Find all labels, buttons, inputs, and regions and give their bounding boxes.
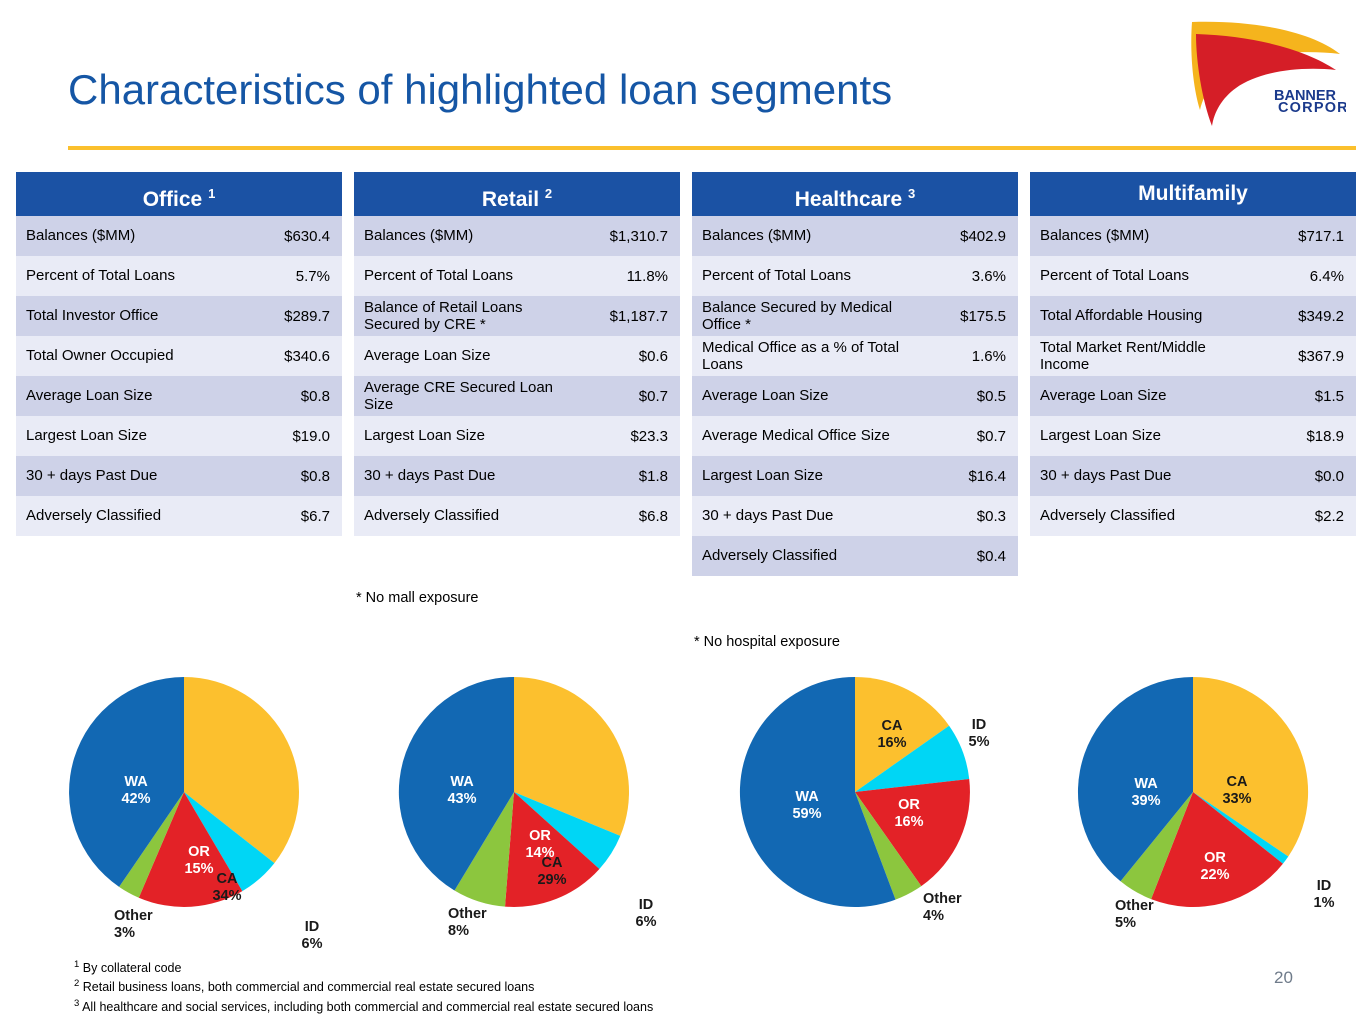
pie-chart-multifamily: CA 33% ID 1% OR 22% Other 5% WA 39% xyxy=(1078,662,1328,942)
pie-value-or: 16% xyxy=(894,814,923,830)
pie-label-ca: CA xyxy=(217,871,238,887)
row-label: Balance Secured by Medical Office * xyxy=(702,299,924,334)
row-value: $340.6 xyxy=(248,348,330,365)
table-row: Largest Loan Size$16.4 xyxy=(692,456,1018,496)
footnote-mark-1: 1 xyxy=(74,959,79,970)
row-label: Largest Loan Size xyxy=(1040,427,1262,444)
pie-value-ca: 34% xyxy=(212,888,241,904)
row-label: 30 + days Past Due xyxy=(702,507,924,524)
pie-value-other: 3% xyxy=(114,925,135,941)
table-retail: Retail 2 Balances ($MM)$1,310.7 Percent … xyxy=(354,172,680,536)
row-value: $289.7 xyxy=(248,308,330,325)
row-value: $1,310.7 xyxy=(586,228,668,245)
row-value: $0.6 xyxy=(586,348,668,365)
row-value: $6.7 xyxy=(248,508,330,525)
table-row: Average CRE Secured Loan Size$0.7 xyxy=(354,376,680,416)
row-label: Adversely Classified xyxy=(1040,507,1262,524)
pie-value-id: 6% xyxy=(636,914,657,930)
footnote-text-2: Retail business loans, both commercial a… xyxy=(83,980,535,994)
table-row: Adversely Classified$0.4 xyxy=(692,536,1018,576)
footnote-3: 3 All healthcare and social services, in… xyxy=(74,997,653,1016)
row-value: $1.5 xyxy=(1262,388,1344,405)
row-label: Average Loan Size xyxy=(364,347,586,364)
table-row: Medical Office as a % of Total Loans1.6% xyxy=(692,336,1018,376)
row-label: Total Affordable Housing xyxy=(1040,307,1262,324)
table-row: Total Affordable Housing$349.2 xyxy=(1030,296,1356,336)
table-row: Balance Secured by Medical Office *$175.… xyxy=(692,296,1018,336)
table-row: Total Investor Office$289.7 xyxy=(16,296,342,336)
row-label: Balances ($MM) xyxy=(1040,227,1262,244)
logo-subwordmark: CORPORATION xyxy=(1278,100,1346,116)
pie-label-wa: WA xyxy=(795,789,819,805)
row-label: Adversely Classified xyxy=(702,547,924,564)
row-label: Largest Loan Size xyxy=(364,427,586,444)
table-header-office: Office 1 xyxy=(16,172,342,216)
pie-value-ca: 33% xyxy=(1222,791,1251,807)
pie-label-ca: CA xyxy=(882,718,903,734)
pie-label-id: ID xyxy=(972,717,987,733)
table-header-office-footnote-mark: 1 xyxy=(208,186,215,201)
footnote-mark-2: 2 xyxy=(74,978,79,989)
row-label: Balances ($MM) xyxy=(364,227,586,244)
pie-label-or: OR xyxy=(1204,850,1226,866)
row-value: $0.5 xyxy=(924,388,1006,405)
pie-value-ca: 16% xyxy=(877,735,906,751)
table-header-office-label: Office xyxy=(143,188,203,211)
row-value: $349.2 xyxy=(1262,308,1344,325)
row-value: 11.8% xyxy=(586,268,668,285)
footnote-text-3: All healthcare and social services, incl… xyxy=(82,1000,653,1014)
table-multifamily: Multifamily Balances ($MM)$717.1 Percent… xyxy=(1030,172,1356,536)
table-row: Total Market Rent/Middle Income$367.9 xyxy=(1030,336,1356,376)
pie-label-other: Other xyxy=(923,891,962,907)
table-row: Percent of Total Loans6.4% xyxy=(1030,256,1356,296)
row-label: Percent of Total Loans xyxy=(1040,267,1262,284)
row-label: Balances ($MM) xyxy=(702,227,924,244)
row-label: Balance of Retail Loans Secured by CRE * xyxy=(364,299,586,334)
table-row: Total Owner Occupied$340.6 xyxy=(16,336,342,376)
row-value: $367.9 xyxy=(1262,348,1344,365)
table-row: Balances ($MM)$402.9 xyxy=(692,216,1018,256)
table-row: Balance of Retail Loans Secured by CRE *… xyxy=(354,296,680,336)
table-row: Balances ($MM)$630.4 xyxy=(16,216,342,256)
row-label: Total Owner Occupied xyxy=(26,347,248,364)
row-value: $630.4 xyxy=(248,228,330,245)
row-label: Balances ($MM) xyxy=(26,227,248,244)
row-label: Adversely Classified xyxy=(26,507,248,524)
row-value: $19.0 xyxy=(248,428,330,445)
table-row: Largest Loan Size$19.0 xyxy=(16,416,342,456)
row-label: Average Loan Size xyxy=(702,387,924,404)
table-row: Average Loan Size$1.5 xyxy=(1030,376,1356,416)
pie-value-id: 5% xyxy=(969,734,990,750)
page-number: 20 xyxy=(1274,968,1293,988)
row-value: $717.1 xyxy=(1262,228,1344,245)
table-header-retail-footnote-mark: 2 xyxy=(545,186,552,201)
pie-value-or: 22% xyxy=(1200,867,1229,883)
pie-chart-retail: CA 29% ID 6% OR 14% Other 8% WA 43% xyxy=(400,662,640,942)
footnotes: 1 By collateral code 2 Retail business l… xyxy=(74,958,653,1016)
table-header-retail: Retail 2 xyxy=(354,172,680,216)
row-label: 30 + days Past Due xyxy=(26,467,248,484)
row-label: 30 + days Past Due xyxy=(364,467,586,484)
row-label: Percent of Total Loans xyxy=(364,267,586,284)
pie-label-or: OR xyxy=(188,844,210,860)
table-row: Average Medical Office Size$0.7 xyxy=(692,416,1018,456)
pie-value-id: 6% xyxy=(302,936,323,952)
pie-value-or: 14% xyxy=(525,845,554,861)
pie-label-wa: WA xyxy=(1134,776,1158,792)
table-row: Average Loan Size$0.6 xyxy=(354,336,680,376)
pie-label-or: OR xyxy=(529,828,551,844)
table-row: Percent of Total Loans11.8% xyxy=(354,256,680,296)
pie-chart-healthcare: CA 16% ID 5% OR 16% Other 4% WA 59% xyxy=(740,662,990,942)
note-healthcare: * No hospital exposure xyxy=(694,634,840,650)
pie-value-id: 1% xyxy=(1314,895,1335,911)
row-value: 1.6% xyxy=(924,348,1006,365)
table-row: 30 + days Past Due$0.3 xyxy=(692,496,1018,536)
table-row: Largest Loan Size$18.9 xyxy=(1030,416,1356,456)
row-label: Total Market Rent/Middle Income xyxy=(1040,339,1262,374)
banner-corporation-logo: BANNER CORPORATION xyxy=(1186,14,1346,132)
table-header-multifamily: Multifamily xyxy=(1030,172,1356,216)
table-row: Average Loan Size$0.8 xyxy=(16,376,342,416)
row-value: 5.7% xyxy=(248,268,330,285)
table-header-multifamily-label: Multifamily xyxy=(1138,182,1248,205)
table-row: Largest Loan Size$23.3 xyxy=(354,416,680,456)
row-label: Largest Loan Size xyxy=(702,467,924,484)
row-value: $0.3 xyxy=(924,508,1006,525)
row-value: 3.6% xyxy=(924,268,1006,285)
footnote-text-1: By collateral code xyxy=(83,961,182,975)
table-row: Average Loan Size$0.5 xyxy=(692,376,1018,416)
row-label: Medical Office as a % of Total Loans xyxy=(702,339,924,374)
row-value: $402.9 xyxy=(924,228,1006,245)
row-value: $0.7 xyxy=(924,428,1006,445)
pie-label-other: Other xyxy=(1115,898,1154,914)
table-row: Percent of Total Loans3.6% xyxy=(692,256,1018,296)
row-value: $0.8 xyxy=(248,468,330,485)
footnote-1: 1 By collateral code xyxy=(74,958,653,977)
table-office: Office 1 Balances ($MM)$630.4 Percent of… xyxy=(16,172,342,536)
pie-label-wa: WA xyxy=(124,774,148,790)
row-value: $16.4 xyxy=(924,468,1006,485)
pie-value-wa: 42% xyxy=(121,791,150,807)
row-value: $0.0 xyxy=(1262,468,1344,485)
row-value: $1.8 xyxy=(586,468,668,485)
table-row: Adversely Classified$2.2 xyxy=(1030,496,1356,536)
table-header-healthcare-label: Healthcare xyxy=(795,188,902,211)
pie-value-ca: 29% xyxy=(537,872,566,888)
footnote-2: 2 Retail business loans, both commercial… xyxy=(74,977,653,996)
table-row: Balances ($MM)$717.1 xyxy=(1030,216,1356,256)
pie-label-id: ID xyxy=(639,897,654,913)
table-row: 30 + days Past Due$0.0 xyxy=(1030,456,1356,496)
row-label: Largest Loan Size xyxy=(26,427,248,444)
pie-value-other: 8% xyxy=(448,923,469,939)
pie-label-wa: WA xyxy=(450,774,474,790)
row-label: Percent of Total Loans xyxy=(26,267,248,284)
note-retail: * No mall exposure xyxy=(356,590,479,606)
pie-label-id: ID xyxy=(1317,878,1332,894)
pie-value-wa: 43% xyxy=(447,791,476,807)
row-value: $1,187.7 xyxy=(586,308,668,325)
row-label: Adversely Classified xyxy=(364,507,586,524)
row-value: $0.4 xyxy=(924,548,1006,565)
pie-chart-office: CA 34% ID 6% OR 15% Other 3% WA 42% xyxy=(70,662,310,942)
pie-value-other: 4% xyxy=(923,908,944,924)
title-divider xyxy=(68,146,1356,150)
pie-value-wa: 39% xyxy=(1131,793,1160,809)
row-label: Average CRE Secured Loan Size xyxy=(364,379,586,414)
row-value: $0.7 xyxy=(586,388,668,405)
row-value: $0.8 xyxy=(248,388,330,405)
row-value: $175.5 xyxy=(924,308,1006,325)
row-value: $2.2 xyxy=(1262,508,1344,525)
table-healthcare: Healthcare 3 Balances ($MM)$402.9 Percen… xyxy=(692,172,1018,576)
row-label: Percent of Total Loans xyxy=(702,267,924,284)
page-title: Characteristics of highlighted loan segm… xyxy=(68,66,892,114)
row-value: $6.8 xyxy=(586,508,668,525)
pie-label-other: Other xyxy=(114,908,153,924)
row-label: 30 + days Past Due xyxy=(1040,467,1262,484)
table-row: Percent of Total Loans5.7% xyxy=(16,256,342,296)
row-value: $18.9 xyxy=(1262,428,1344,445)
table-row: Adversely Classified$6.7 xyxy=(16,496,342,536)
pie-label-id: ID xyxy=(305,919,320,935)
row-label: Average Loan Size xyxy=(1040,387,1262,404)
footnote-mark-3: 3 xyxy=(74,998,79,1009)
table-row: 30 + days Past Due$1.8 xyxy=(354,456,680,496)
table-row: Adversely Classified$6.8 xyxy=(354,496,680,536)
row-value: $23.3 xyxy=(586,428,668,445)
pie-value-other: 5% xyxy=(1115,915,1136,931)
row-label: Average Medical Office Size xyxy=(702,427,924,444)
row-value: 6.4% xyxy=(1262,268,1344,285)
table-header-healthcare: Healthcare 3 xyxy=(692,172,1018,216)
pie-label-ca: CA xyxy=(1227,774,1248,790)
row-label: Total Investor Office xyxy=(26,307,248,324)
table-header-healthcare-footnote-mark: 3 xyxy=(908,186,915,201)
pie-label-or: OR xyxy=(898,797,920,813)
pie-value-wa: 59% xyxy=(792,806,821,822)
row-label: Average Loan Size xyxy=(26,387,248,404)
pie-value-or: 15% xyxy=(184,861,213,877)
table-header-retail-label: Retail xyxy=(482,188,539,211)
table-row: 30 + days Past Due$0.8 xyxy=(16,456,342,496)
pie-label-other: Other xyxy=(448,906,487,922)
table-row: Balances ($MM)$1,310.7 xyxy=(354,216,680,256)
